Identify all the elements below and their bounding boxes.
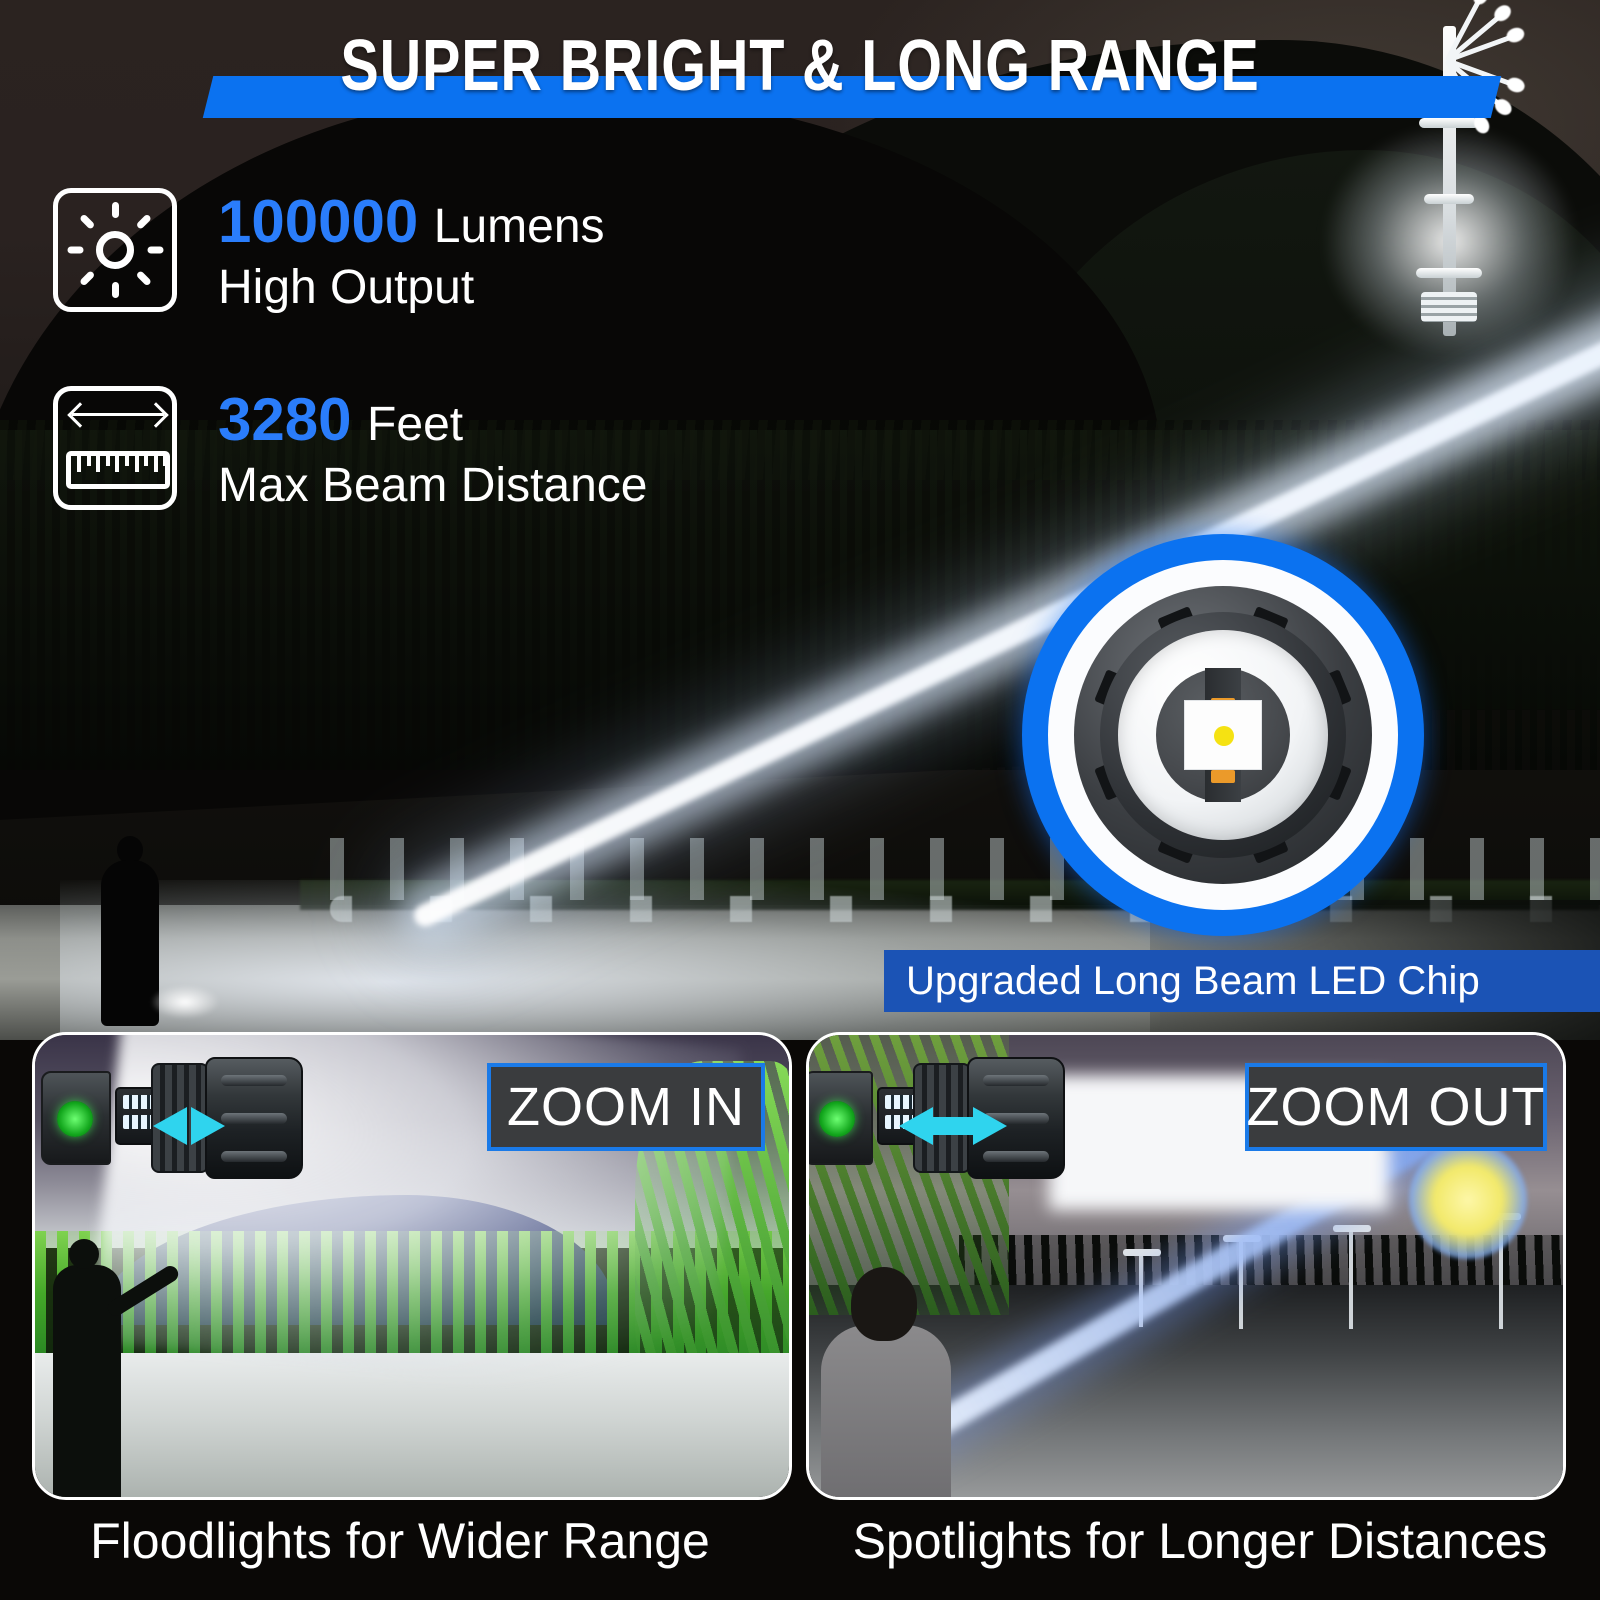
spec-desc-distance: Max Beam Distance	[218, 457, 648, 515]
flashlight-vent	[221, 1075, 287, 1086]
spec-item-distance: 3280 Feet Max Beam Distance	[48, 378, 688, 528]
sun-ray	[112, 282, 119, 298]
power-button-icon	[819, 1101, 855, 1137]
panel-zoom-in[interactable]: ZOOM IN	[32, 1032, 792, 1500]
zoom-out-badge-label: ZOOM OUT	[1247, 1076, 1546, 1138]
sun-ray	[68, 247, 84, 254]
title-banner: SUPER BRIGHT & LONG RANGE	[0, 14, 1600, 124]
flashlight-vent	[983, 1075, 1049, 1086]
flashlight-graphic-zoom-in	[41, 1057, 303, 1179]
panel-person	[821, 1325, 951, 1500]
page-title: SUPER BRIGHT & LONG RANGE	[160, 28, 1440, 104]
ruler-tick	[96, 456, 100, 472]
spec-value-distance: 3280	[218, 386, 351, 453]
flashlight-vent	[221, 1113, 287, 1124]
spec-item-lumens: 100000 Lumens High Output	[48, 180, 688, 330]
sun-ray	[148, 247, 164, 254]
panel-zoom-out[interactable]: ZOOM OUT	[806, 1032, 1566, 1500]
spec-text-distance: 3280 Feet Max Beam Distance	[218, 388, 648, 515]
tower-ring	[1416, 268, 1482, 278]
spot-hotspot	[1409, 1141, 1527, 1259]
spec-desc-lumens: High Output	[218, 259, 605, 317]
double-arrow-icon	[72, 413, 164, 416]
zoom-arrow-left-icon	[899, 1107, 933, 1145]
flashlight-vent	[221, 1151, 287, 1162]
zoom-arrow-right-icon	[973, 1107, 1007, 1145]
ruler-tick	[77, 456, 81, 472]
panel-person-silhouette	[53, 1265, 121, 1500]
street-lamp-pole	[1349, 1225, 1353, 1329]
spec-text-lumens: 100000 Lumens High Output	[218, 190, 605, 317]
ruler-tick	[163, 456, 167, 466]
sun-ray	[79, 214, 95, 230]
sun-core	[96, 231, 134, 269]
flashlight-graphic-zoom-out	[806, 1057, 1065, 1179]
sun-ray	[136, 270, 152, 286]
street-lamp-head	[1123, 1249, 1161, 1256]
product-feature-image: SUPER BRIGHT & LONG RANGE 100000 Lumens …	[0, 0, 1600, 1600]
ruler-distance-icon	[53, 386, 177, 510]
caption-spotlights: Spotlights for Longer Distances	[800, 1512, 1600, 1570]
zoom-arrow-right-icon	[191, 1107, 225, 1145]
ruler-tick	[125, 456, 129, 466]
ruler-tick	[106, 456, 110, 466]
flashlight-vent	[983, 1151, 1049, 1162]
led-chip-caption: Upgraded Long Beam LED Chip	[884, 959, 1480, 1004]
ruler-tick	[144, 456, 148, 466]
power-button-icon	[57, 1101, 93, 1137]
ruler-tick	[154, 456, 158, 472]
spec-unit-distance: Feet	[367, 398, 463, 451]
spec-list: 100000 Lumens High Output 3280 Feet Max …	[48, 180, 688, 576]
ruler-tick	[135, 456, 139, 472]
tower-base	[1421, 292, 1477, 322]
display-segment	[123, 1095, 153, 1109]
sun-ray	[79, 270, 95, 286]
brightness-sun-icon	[53, 188, 177, 312]
caption-floodlights: Floodlights for Wider Range	[0, 1512, 800, 1570]
led-chip-closeup	[1022, 534, 1424, 936]
zoom-in-badge: ZOOM IN	[487, 1063, 765, 1151]
chip-contact-pad	[1211, 770, 1235, 783]
spec-unit-lumens: Lumens	[434, 200, 605, 253]
sun-ray	[136, 214, 152, 230]
zoom-in-badge-label: ZOOM IN	[507, 1076, 745, 1138]
spec-value-lumens: 100000	[218, 188, 418, 255]
led-chip-caption-bar: Upgraded Long Beam LED Chip	[884, 950, 1600, 1012]
chip-emitter-dot	[1214, 726, 1234, 746]
sun-ray	[112, 202, 119, 218]
ruler-tick	[87, 456, 91, 466]
ruler-icon	[66, 451, 170, 489]
ruler-tick	[115, 456, 119, 472]
zoom-out-badge: ZOOM OUT	[1245, 1063, 1547, 1151]
tower-ring	[1424, 194, 1474, 204]
display-segment	[123, 1115, 153, 1129]
beam-origin-flare	[150, 985, 220, 1019]
zoom-arrow-left-icon	[153, 1107, 187, 1145]
